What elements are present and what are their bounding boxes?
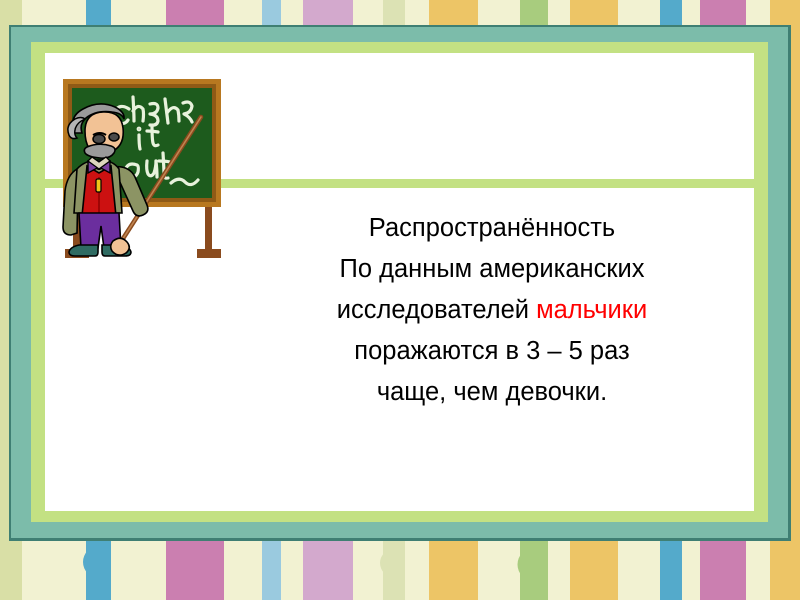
text-line-2: исследователей мальчики [267, 290, 717, 331]
text-segment: исследователей [337, 296, 536, 324]
slide-canvas: Распространённость По данным американски… [0, 0, 800, 600]
professor-chalkboard-illustration [55, 73, 255, 283]
text-title: Распространённость [267, 208, 717, 249]
text-segment: поражаются в 3 – 5 раз [354, 337, 629, 365]
slide-content: Распространённость По данным американски… [45, 53, 754, 511]
text-line-1: По данным американских [267, 249, 717, 290]
frame-green-band: Распространённость По данным американски… [31, 42, 768, 522]
stripe-bulb [380, 549, 408, 577]
body-text-block: Распространённость По данным американски… [267, 208, 717, 413]
text-line-4: чаще, чем девочки. [267, 372, 717, 413]
frame-white-canvas: Распространённость По данным американски… [45, 53, 754, 511]
frame-outer-border: Распространённость По данным американски… [9, 25, 791, 541]
frame-teal-band: Распространённость По данным американски… [11, 27, 788, 538]
text-segment: По данным американских [340, 255, 645, 283]
stripe-bulb [83, 546, 115, 578]
text-segment: чаще, чем девочки. [377, 378, 607, 406]
text-line-3: поражаются в 3 – 5 раз [267, 331, 717, 372]
stripe-bulb [518, 548, 551, 581]
highlighted-word: мальчики [536, 296, 647, 324]
